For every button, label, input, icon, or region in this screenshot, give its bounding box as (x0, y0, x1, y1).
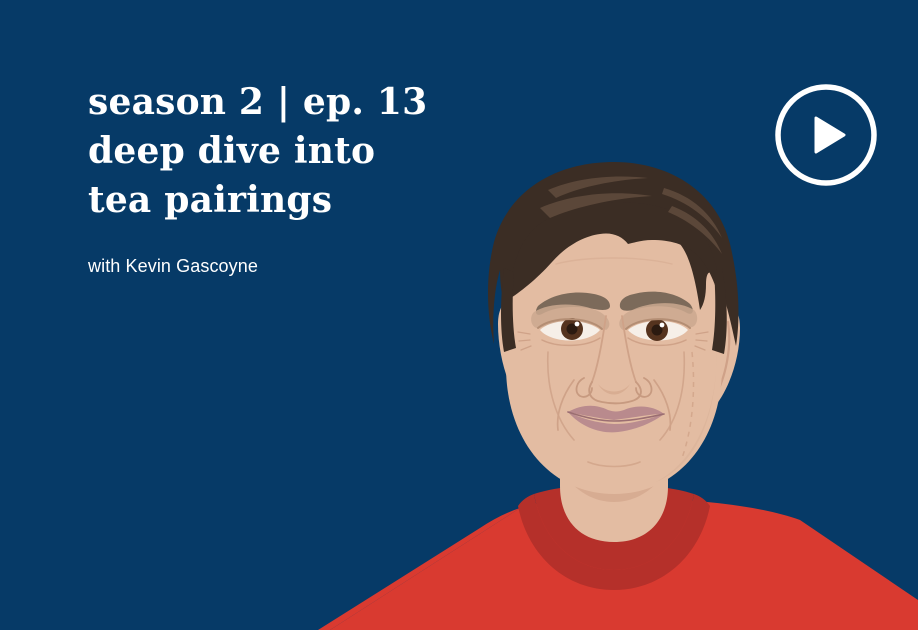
play-button[interactable] (772, 81, 880, 189)
episode-cover-card: season 2 | ep. 13 deep dive into tea pai… (0, 0, 918, 630)
play-triangle-icon (816, 118, 844, 152)
eye-catchlight-right (660, 323, 665, 328)
episode-text-block: season 2 | ep. 13 deep dive into tea pai… (88, 78, 508, 277)
play-circle-icon (772, 81, 880, 189)
title-line-season-episode: season 2 | ep. 13 (88, 78, 508, 127)
eye-catchlight-left (575, 322, 580, 327)
title-line-topic-2: tea pairings (88, 176, 508, 225)
guest-credit: with Kevin Gascoyne (88, 225, 508, 277)
title-line-topic-1: deep dive into (88, 127, 508, 176)
